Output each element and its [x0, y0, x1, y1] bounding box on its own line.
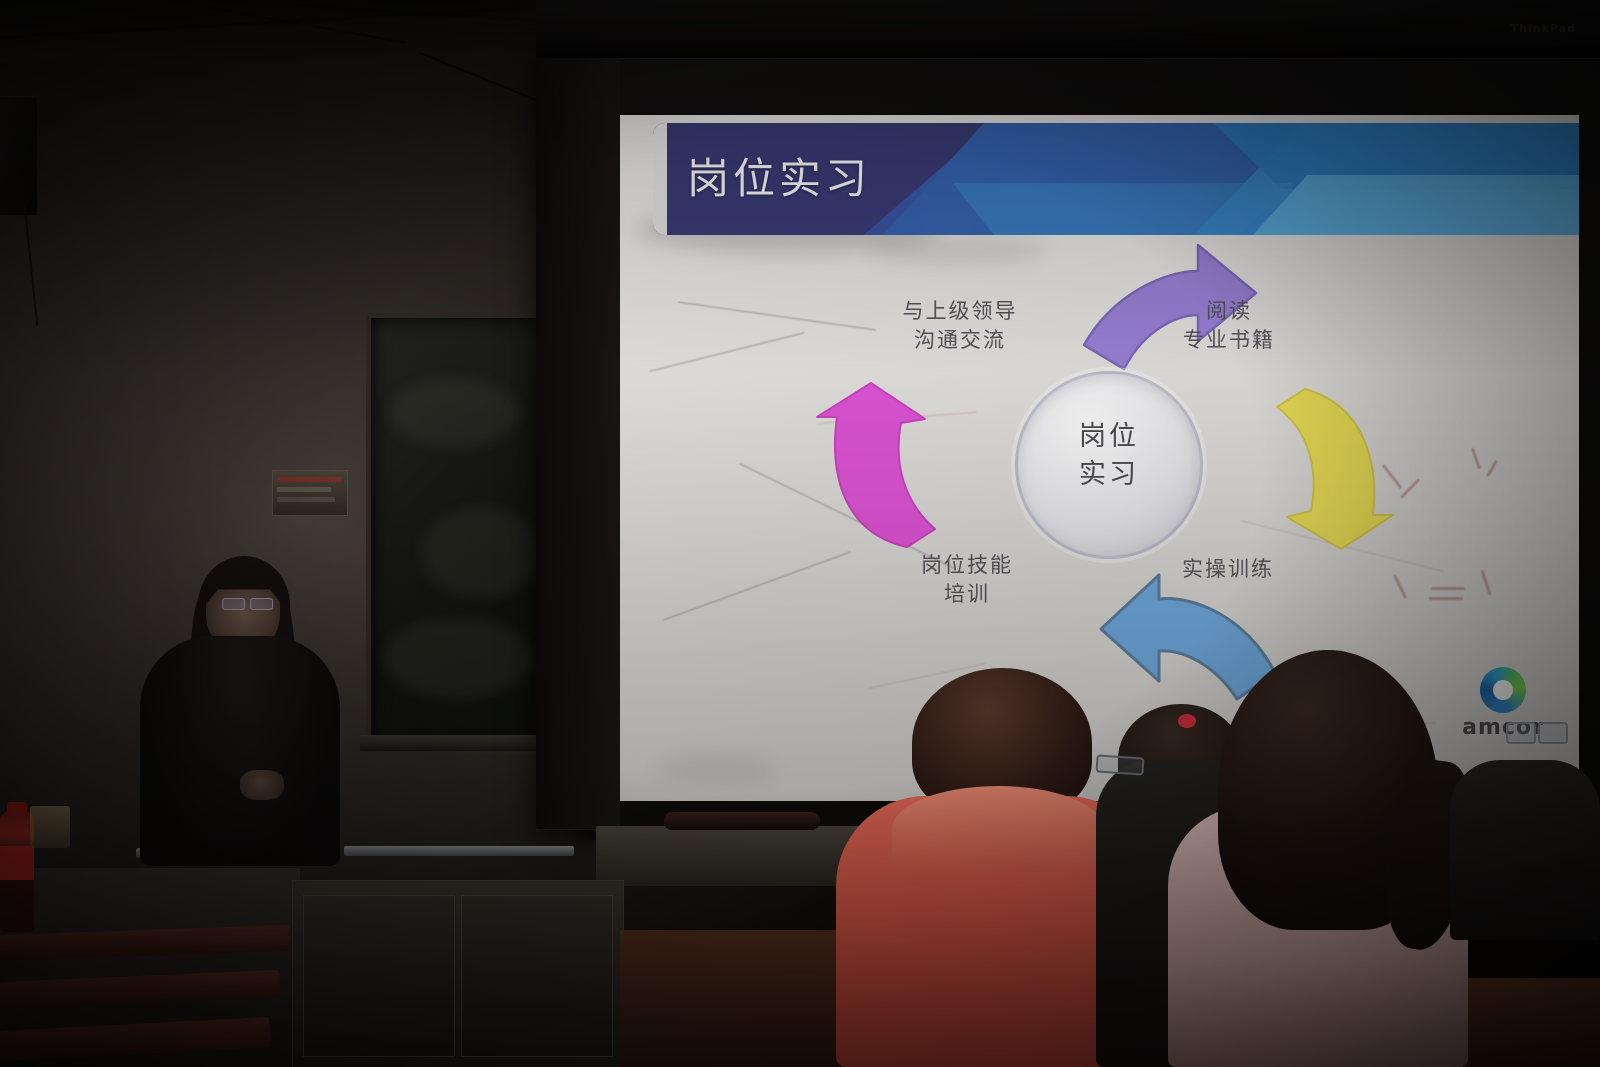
cup-on-desk: [30, 806, 70, 848]
bag-on-ledge: [664, 812, 820, 830]
cycle-center-circle: 岗位 实习: [1015, 371, 1203, 559]
presenter-glasses-icon: [222, 598, 272, 608]
cola-bottle: [0, 812, 34, 932]
banner-facet-5: [953, 183, 1293, 235]
cycle-label-communicate-line2: 沟通交流: [855, 326, 1065, 355]
banner-left-tab: [653, 123, 667, 235]
slide-title: 岗位实习: [687, 145, 871, 206]
cycle-label-reading-line2: 专业书籍: [1139, 326, 1319, 355]
bottle-label: [0, 846, 34, 880]
slide-canvas: 岗位实习: [617, 115, 1579, 801]
magenta-arrow-up-icon: [813, 381, 943, 553]
wall-speaker: [0, 96, 38, 216]
screen-top-frame: ThinkPad: [536, 0, 1600, 60]
cycle-center-line2: 实习: [1018, 456, 1200, 494]
classroom-scene: ThinkPad: [0, 0, 1600, 1067]
cycle-label-practice: 实操训练: [1133, 555, 1323, 584]
cycle-label-communicate-line1: 与上级领导: [855, 297, 1065, 326]
projector-brand-label: ThinkPad: [1511, 22, 1576, 35]
amcor-mark-icon: [1480, 667, 1526, 713]
podium: [596, 826, 872, 886]
desk-rail-right: [344, 846, 574, 856]
cycle-label-training-line1: 岗位技能: [867, 551, 1067, 580]
projection-surface: 岗位实习: [617, 115, 1579, 801]
cabinet-door-right[interactable]: [461, 895, 613, 1057]
wall-poster: [272, 470, 348, 516]
banner-facet-4: [1253, 175, 1579, 235]
cycle-label-reading: 阅读 专业书籍: [1139, 297, 1319, 355]
cycle-label-training-line2: 培训: [867, 580, 1067, 609]
student-4-body: [1450, 760, 1600, 940]
student-2-hairclip: [1178, 714, 1196, 728]
cabinet: [292, 880, 624, 1067]
student-1-hood: [892, 786, 1104, 872]
screen-left-frame: [536, 58, 620, 828]
cycle-label-reading-line1: 阅读: [1139, 297, 1319, 326]
cycle-label-practice-line1: 实操训练: [1133, 555, 1323, 584]
cycle-center-line1: 岗位: [1018, 418, 1200, 456]
cycle-label-training: 岗位技能 培训: [867, 551, 1067, 609]
cycle-diagram: 岗位 实习 与上级领导 沟通交流 阅读 专业书籍 实操训练: [617, 235, 1579, 801]
presenter-body: [140, 636, 340, 866]
cabinet-door-left[interactable]: [303, 895, 455, 1057]
yellow-arrow-down-icon: [1267, 383, 1397, 553]
cycle-label-communicate: 与上级领导 沟通交流: [855, 297, 1065, 355]
student-2-glasses-icon: [1095, 754, 1144, 775]
presenter-hands: [240, 770, 284, 800]
cycle-center-label: 岗位 实习: [1018, 418, 1200, 495]
bottle-cap: [7, 802, 27, 814]
student-4-glasses-icon: [1506, 722, 1566, 742]
